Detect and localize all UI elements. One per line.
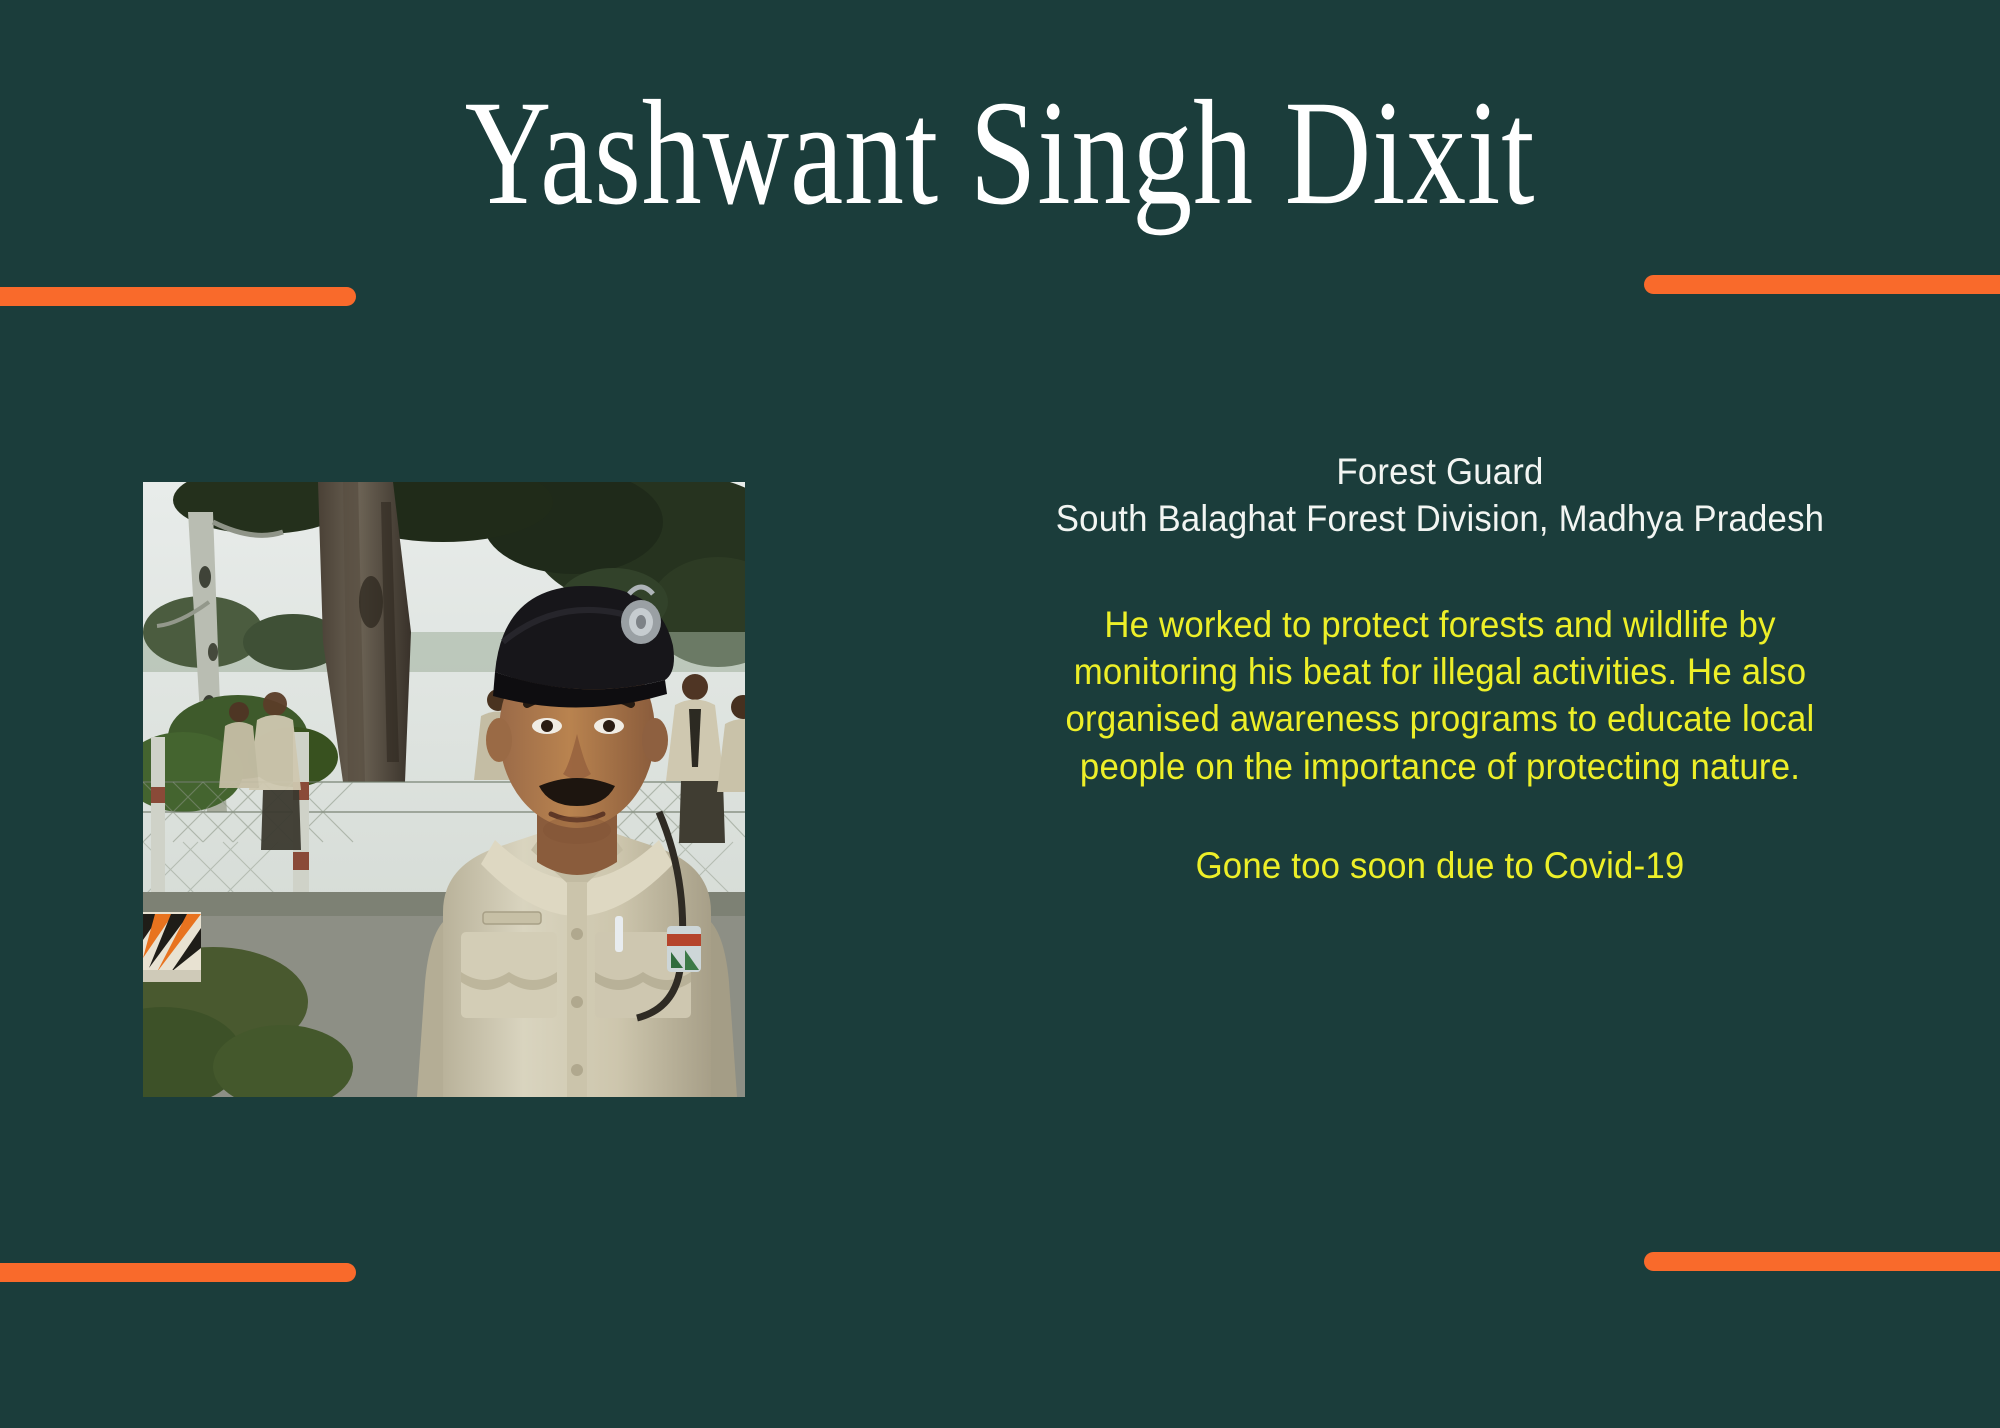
tribute-line: He worked to protect forests and wildlif… <box>975 601 1906 648</box>
accent-bar-bottom-left <box>0 1263 356 1282</box>
tribute-body: He worked to protect forests and wildlif… <box>975 601 1906 790</box>
page-title: Yashwant Singh Dixit <box>200 78 1800 228</box>
accent-bar-top-right <box>1644 275 2000 294</box>
closing-message: Gone too soon due to Covid-19 <box>975 842 1906 889</box>
tribute-line: monitoring his beat for illegal activiti… <box>975 648 1906 695</box>
portrait-photo-illustration <box>143 482 745 1097</box>
tribute-line: people on the importance of protecting n… <box>975 743 1906 790</box>
portrait-photo <box>143 482 745 1097</box>
role-posting: South Balaghat Forest Division, Madhya P… <box>975 495 1906 542</box>
spacer <box>945 543 1935 601</box>
tribute-line: organised awareness programs to educate … <box>975 695 1906 742</box>
accent-bar-top-left <box>0 287 356 306</box>
role-designation: Forest Guard <box>975 448 1906 495</box>
spacer <box>945 790 1935 842</box>
tribute-text-column: Forest Guard South Balaghat Forest Divis… <box>945 448 1935 890</box>
memorial-poster: Yashwant Singh Dixit <box>0 0 2000 1428</box>
accent-bar-bottom-right <box>1644 1252 2000 1271</box>
